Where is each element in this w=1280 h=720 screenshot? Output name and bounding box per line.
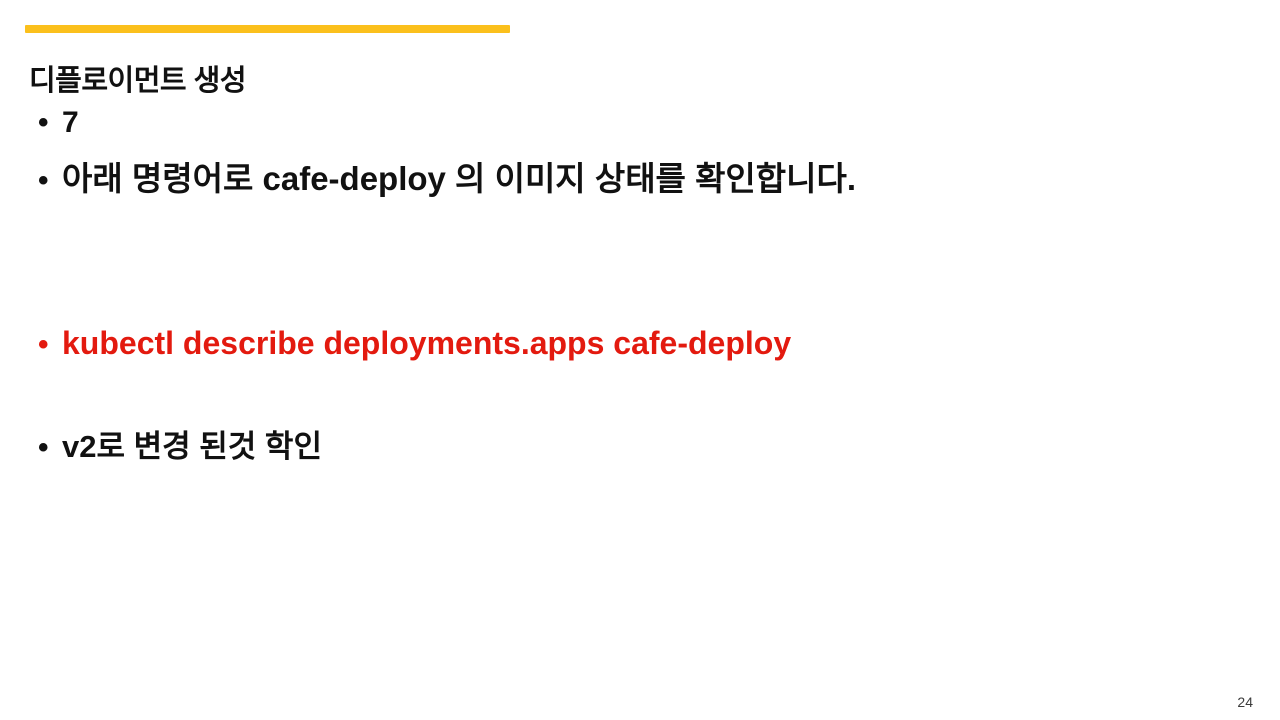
list-item: • 아래 명령어로 cafe-deploy 의 이미지 상태를 확인합니다.: [38, 158, 1238, 200]
bullet-marker-icon: •: [38, 330, 62, 360]
list-item-label: 아래 명령어로 cafe-deploy 의 이미지 상태를 확인합니다.: [62, 158, 856, 200]
list-item: • v2로 변경 된것 학인: [38, 427, 1238, 467]
vertical-spacer: [38, 201, 1238, 323]
list-item-label: 7: [62, 104, 79, 142]
bullet-list: • 7 • 아래 명령어로 cafe-deploy 의 이미지 상태를 확인합니…: [38, 104, 1238, 466]
bullet-marker-icon: •: [38, 166, 62, 196]
command-text: kubectl describe deployments.apps cafe-d…: [62, 323, 791, 364]
slide-canvas: 디플로이먼트 생성 • 7 • 아래 명령어로 cafe-deploy 의 이미…: [0, 0, 1280, 720]
page-number: 24: [1237, 694, 1253, 710]
vertical-spacer: [38, 364, 1238, 427]
list-item: • 7: [38, 104, 1238, 142]
list-item-label: v2로 변경 된것 학인: [62, 427, 322, 467]
page-title: 디플로이먼트 생성: [29, 64, 929, 99]
title-accent-bar: [25, 25, 510, 33]
bullet-marker-icon: •: [38, 433, 62, 463]
bullet-marker-icon: •: [38, 108, 62, 138]
list-item-command: • kubectl describe deployments.apps cafe…: [38, 323, 1238, 364]
